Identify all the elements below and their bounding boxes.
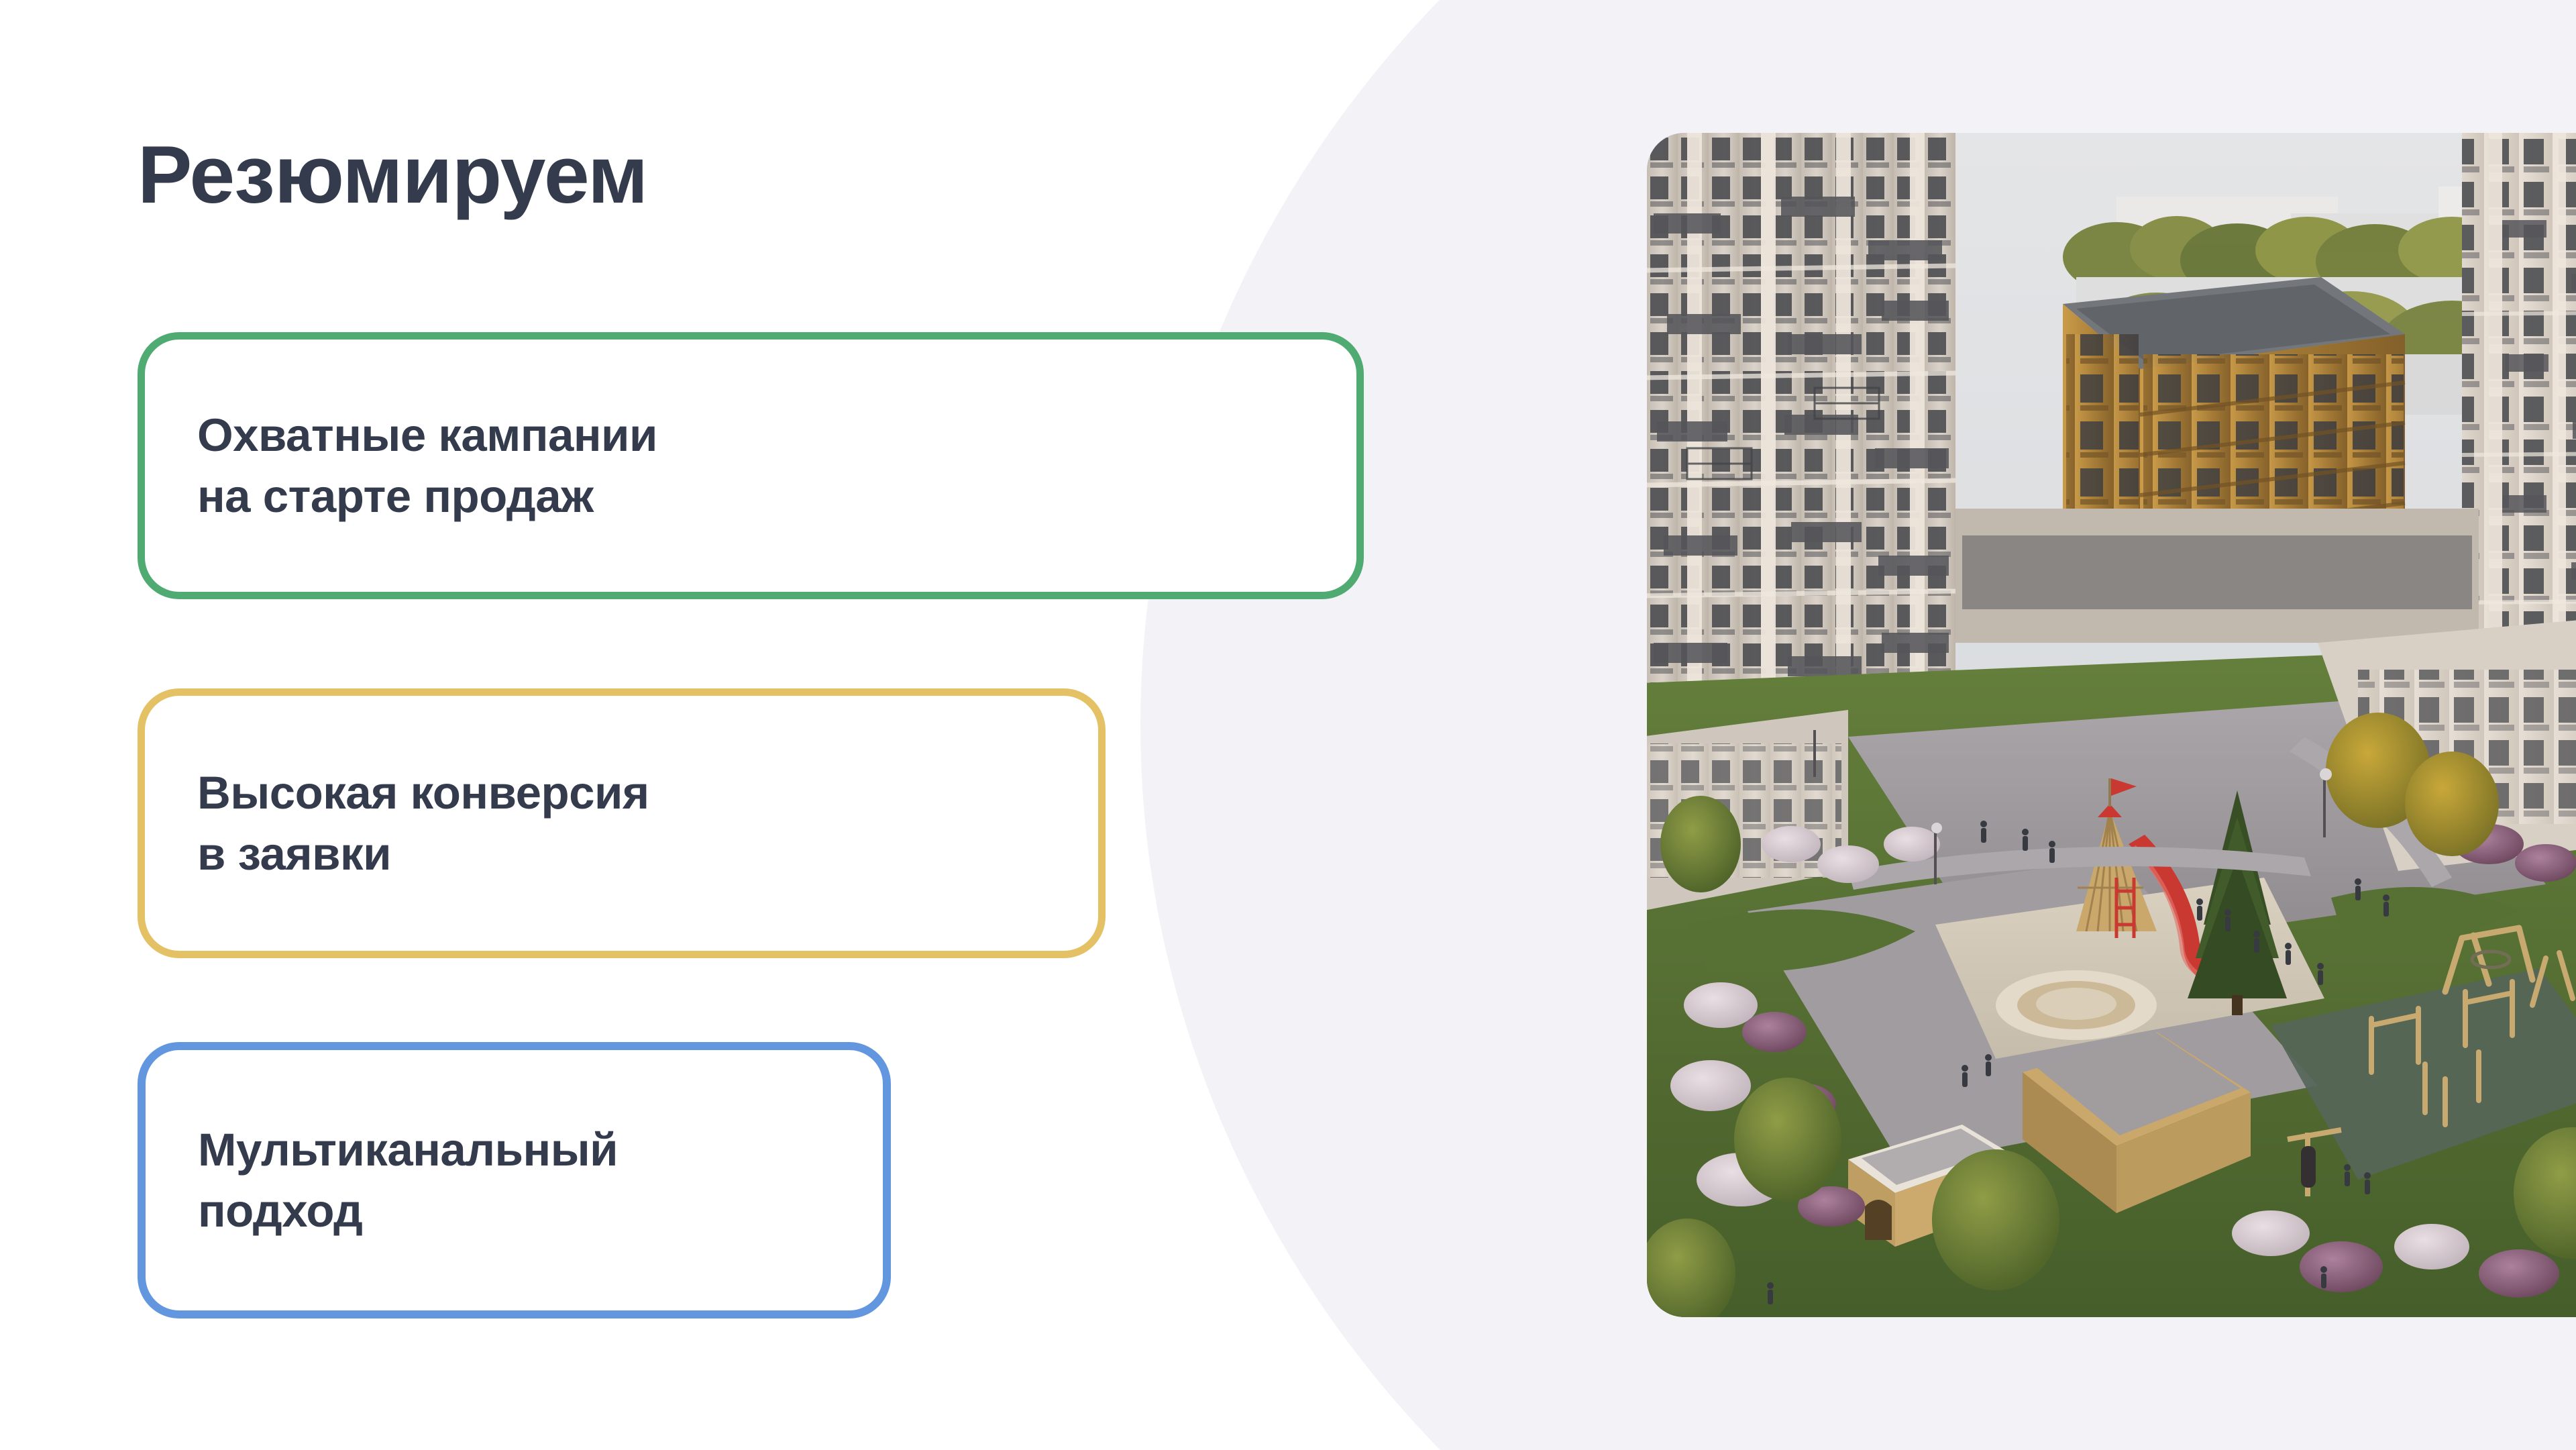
page-title: Резюмируем (138, 132, 647, 217)
summary-card-text: Мультиканальный подход (146, 1119, 645, 1241)
summary-card-text: Охватные кампании на старте продаж (145, 405, 684, 527)
summary-card-high-conversion[interactable]: Высокая конверсия в заявки (138, 688, 1106, 958)
residential-complex-render-image: КОРПУС (1647, 133, 2576, 1317)
left-content-column: Резюмируем Охватные кампании на старте п… (0, 0, 1476, 1450)
render-illustration: КОРПУС (1647, 133, 2576, 1317)
summary-card-text: Высокая конверсия в заявки (145, 762, 676, 884)
summary-card-multichannel-approach[interactable]: Мультиканальный подход (138, 1042, 891, 1318)
slide-root: Резюмируем Охватные кампании на старте п… (0, 0, 2576, 1450)
summary-card-reach-campaigns[interactable]: Охватные кампании на старте продаж (138, 332, 1364, 599)
